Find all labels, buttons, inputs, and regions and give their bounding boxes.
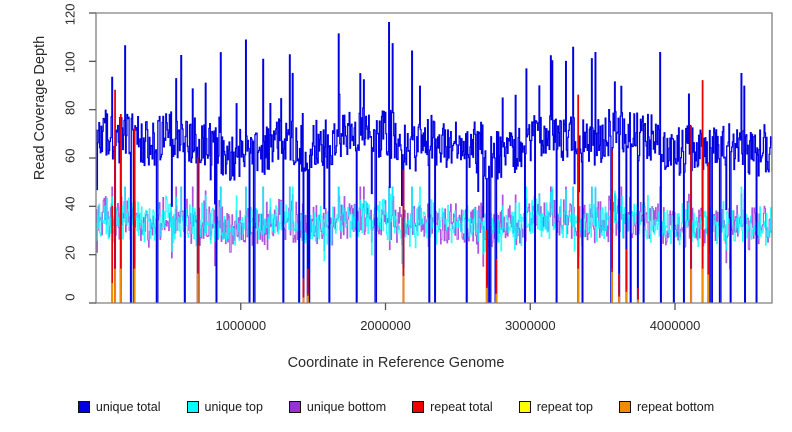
legend-item: repeat top [519,400,593,414]
legend-label: unique top [205,400,263,414]
legend-swatch-icon [619,401,631,413]
legend-item: unique total [78,400,161,414]
x-axis-title: Coordinate in Reference Genome [0,355,792,371]
y-tick-label: 80 [63,100,78,134]
legend-item: repeat bottom [619,400,714,414]
series-repeat-total [96,81,772,303]
series-repeat-bottom [96,269,772,303]
y-tick-label: 120 [63,4,78,38]
legend-label: repeat bottom [637,400,714,414]
legend-swatch-icon [78,401,90,413]
legend-item: unique top [187,400,263,414]
data-traces [96,23,772,303]
legend-label: unique bottom [307,400,386,414]
legend-swatch-icon [289,401,301,413]
y-tick-label: 40 [63,197,78,231]
x-tick-label: 1000000 [215,318,266,333]
x-tick-label: 4000000 [650,318,701,333]
y-tick-label: 100 [63,52,78,86]
y-axis-title: Read Coverage Depth [32,0,48,218]
chart-legend: unique totalunique topunique bottomrepea… [0,400,792,414]
y-tick-label: 20 [63,245,78,279]
legend-swatch-icon [412,401,424,413]
legend-item: repeat total [412,400,493,414]
legend-label: unique total [96,400,161,414]
y-tick-label: 60 [63,149,78,183]
legend-swatch-icon [519,401,531,413]
x-tick-label: 2000000 [360,318,411,333]
y-tick-label: 0 [63,294,78,328]
legend-label: repeat total [430,400,493,414]
legend-label: repeat top [537,400,593,414]
x-tick-label: 3000000 [505,318,556,333]
legend-item: unique bottom [289,400,386,414]
coverage-depth-chart: Read Coverage Depth Coordinate in Refere… [0,0,792,432]
legend-swatch-icon [187,401,199,413]
